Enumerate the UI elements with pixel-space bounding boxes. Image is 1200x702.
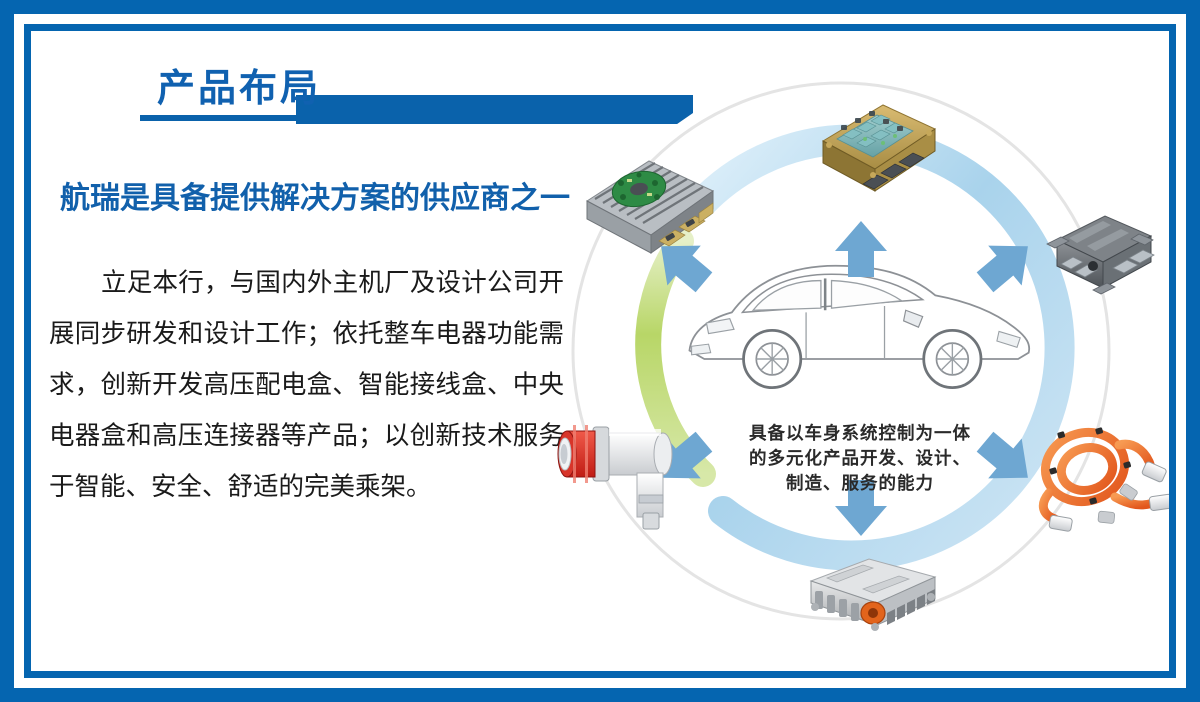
high-voltage-connector-icon xyxy=(558,425,672,529)
product-layout-diagram: 具备以车身系统控制为一体的多元化产品开发、设计、制造、服务的能力 xyxy=(531,41,1169,661)
fuse-relay-box-icon xyxy=(823,105,935,191)
center-caption: 具备以车身系统控制为一体的多元化产品开发、设计、制造、服务的能力 xyxy=(749,421,971,496)
high-voltage-harness-icon xyxy=(1037,423,1169,531)
title-underline-rule xyxy=(140,115,540,121)
sedan-car-illustration xyxy=(689,266,1029,388)
page-title: 产品布局 xyxy=(157,57,321,112)
slide-canvas: 产品布局 航瑞是具备提供解决方案的供应商之一 立足本行，与国内外主机厂及设计公司… xyxy=(31,31,1169,671)
slide-root: 产品布局 航瑞是具备提供解决方案的供应商之一 立足本行，与国内外主机厂及设计公司… xyxy=(0,0,1200,702)
ecu-heatsink-module-icon xyxy=(587,161,713,253)
diagram-graphics xyxy=(531,41,1169,661)
body-paragraph: 立足本行，与国内外主机厂及设计公司开展同步研发和设计工作；依托整车电器功能需求，… xyxy=(49,257,564,512)
